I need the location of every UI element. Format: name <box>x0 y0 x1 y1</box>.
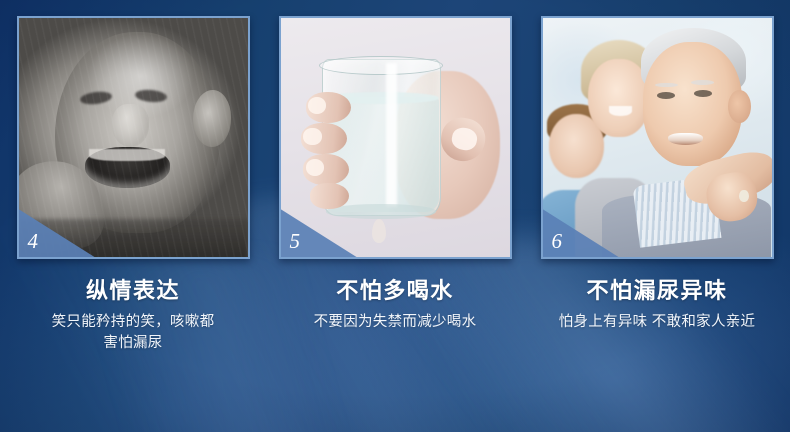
woman-smile-shape <box>609 106 632 116</box>
man-eye-right-shape <box>694 90 712 97</box>
card-subtitle-line: 不要因为失禁而减少喝水 <box>270 312 520 333</box>
card-subtitle: 怕身上有异味 不敢和家人亲近 <box>532 312 782 333</box>
photo-laughing-elderly-man <box>19 18 248 257</box>
feature-card[interactable]: 6 不怕漏尿异味 怕身上有异味 不敢和家人亲近 <box>537 16 777 333</box>
man-eyebrow-right-shape <box>691 80 714 85</box>
man-eyebrow-left-shape <box>655 83 678 88</box>
card-caption: 不怕多喝水 不要因为失禁而减少喝水 <box>270 279 520 333</box>
card-title: 不怕漏尿异味 <box>532 279 782 303</box>
card-caption: 纵情表达 笑只能矜持的笑，咳嗽都 害怕漏尿 <box>8 279 258 354</box>
fingernail-shape <box>308 97 326 114</box>
card-subtitle: 笑只能矜持的笑，咳嗽都 害怕漏尿 <box>8 312 258 354</box>
card-subtitle-line: 笑只能矜持的笑，咳嗽都 <box>8 312 258 333</box>
feature-card[interactable]: 4 纵情表达 笑只能矜持的笑，咳嗽都 害怕漏尿 <box>13 16 253 354</box>
photo-family-elderly-man <box>543 18 772 257</box>
fingernail-shape <box>306 159 324 176</box>
glass-highlight <box>386 63 397 206</box>
card-subtitle: 不要因为失禁而减少喝水 <box>270 312 520 333</box>
card-title: 纵情表达 <box>8 279 258 303</box>
feature-card-row: 4 纵情表达 笑只能矜持的笑，咳嗽都 害怕漏尿 <box>0 0 790 354</box>
card-title: 不怕多喝水 <box>270 279 520 303</box>
skin-texture-overlay <box>19 18 248 257</box>
photo-hand-holding-water-glass <box>281 18 510 257</box>
glass-base-shape <box>326 204 436 218</box>
photo-frame[interactable]: 6 <box>541 16 774 259</box>
ring-shape <box>739 190 748 202</box>
photo-frame[interactable]: 4 <box>17 16 250 259</box>
card-subtitle-line: 害怕漏尿 <box>8 333 258 354</box>
feature-card[interactable]: 5 不怕多喝水 不要因为失禁而减少喝水 <box>275 16 515 333</box>
card-subtitle-line: 怕身上有异味 不敢和家人亲近 <box>532 312 782 333</box>
promo-banner: 4 纵情表达 笑只能矜持的笑，咳嗽都 害怕漏尿 <box>0 0 790 432</box>
card-caption: 不怕漏尿异味 怕身上有异味 不敢和家人亲近 <box>532 279 782 333</box>
fingernail-shape <box>303 128 321 145</box>
photo-frame[interactable]: 5 <box>279 16 512 259</box>
man-mouth-shape <box>668 133 702 145</box>
water-drop-shape <box>372 219 386 243</box>
man-ear-shape <box>728 90 751 123</box>
man-face-shape <box>643 42 741 166</box>
